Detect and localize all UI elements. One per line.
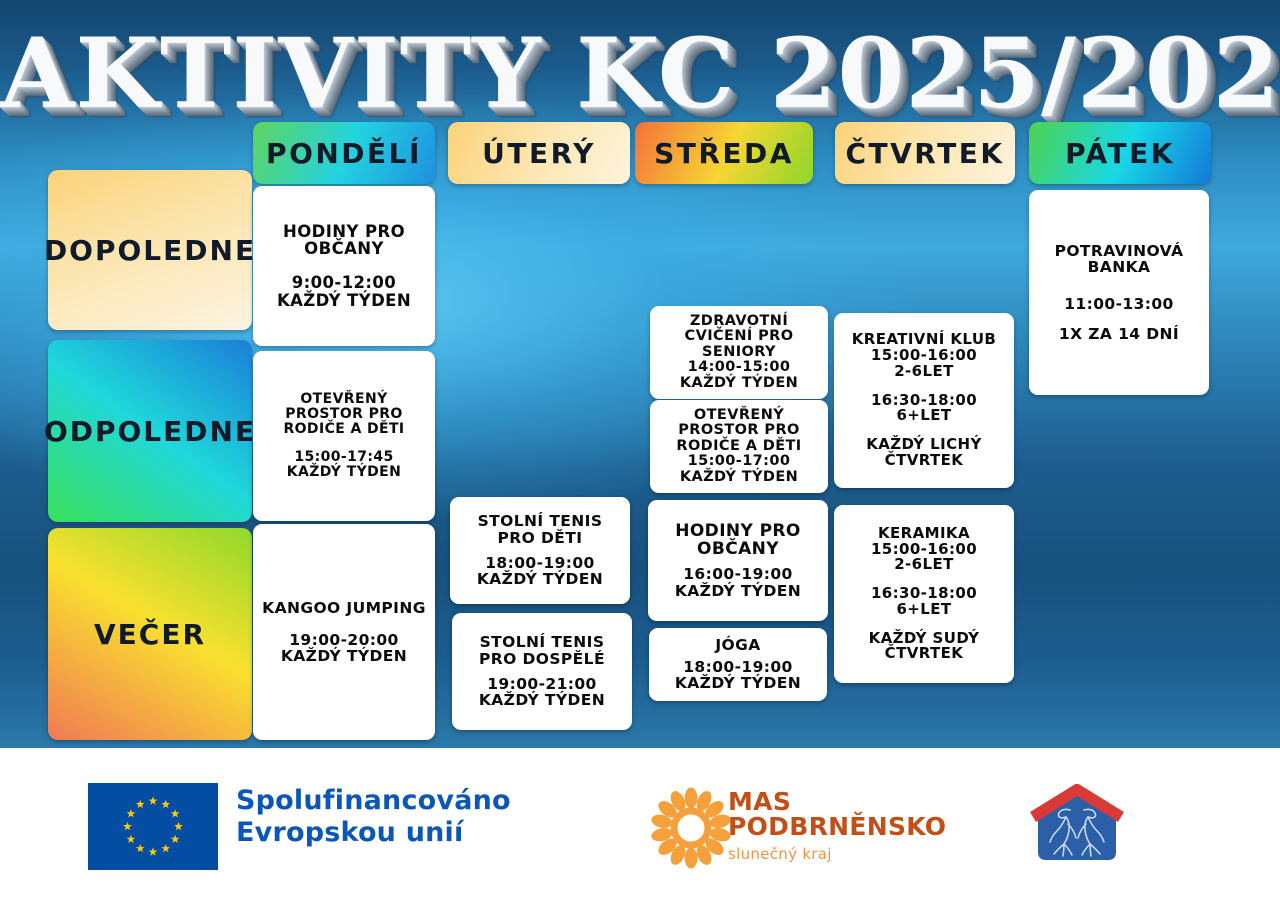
row-label-dopoledne: DOPOLEDNE <box>48 170 252 330</box>
activity-card[interactable]: KANGOO JUMPING 19:00-20:00KAŽDÝ TÝDEN <box>253 524 435 740</box>
activity-card[interactable]: STOLNÍ TENISPRO DOSPĚLÉ 19:00-21:00KAŽDÝ… <box>452 613 632 730</box>
day-header-label: STŘEDA <box>654 137 794 170</box>
house-heron-logo <box>1026 784 1128 864</box>
eu-flag-icon <box>88 783 218 870</box>
activity-title: OTEVŘENÝPROSTOR PRORODIČE A DĚTI <box>283 392 404 436</box>
day-header-patek: PÁTEK <box>1029 122 1211 184</box>
eu-funding-text: Spolufinancováno Evropskou unií <box>236 785 511 849</box>
activity-note: 1X ZA 14 DNÍ <box>1059 326 1179 342</box>
activity-title: KERAMIKA15:00-16:002-6LET <box>871 526 977 574</box>
activity-time: 15:00-17:45KAŽDÝ TÝDEN <box>287 450 401 480</box>
row-label-text: ODPOLEDNE <box>44 415 256 448</box>
activity-title: ZDRAVOTNÍCVIČENÍ PROSENIORY <box>685 314 794 360</box>
day-header-ctvrtek: ČTVRTEK <box>835 122 1015 184</box>
activity-card[interactable]: OTEVŘENÝPROSTOR PRORODIČE A DĚTI 15:00-1… <box>650 400 828 493</box>
activity-note: KAŽDÝ SUDÝČTVRTEK <box>869 631 980 663</box>
row-label-odpoledne: ODPOLEDNE <box>48 340 252 522</box>
day-header-label: ČTVRTEK <box>845 137 1004 170</box>
activity-card[interactable]: ZDRAVOTNÍCVIČENÍ PROSENIORY 14:00-15:00K… <box>650 306 828 399</box>
activity-title: POTRAVINOVÁBANKA <box>1055 243 1184 276</box>
activity-card[interactable]: KERAMIKA15:00-16:002-6LET 16:30-18:006+L… <box>834 505 1014 683</box>
activity-card[interactable]: OTEVŘENÝPROSTOR PRORODIČE A DĚTI 15:00-1… <box>253 351 435 521</box>
activity-time: 19:00-20:00KAŽDÝ TÝDEN <box>281 632 407 665</box>
day-header-label: PÁTEK <box>1065 137 1175 170</box>
mas-logo-text: MAS PODBRNĚNSKO slunečný kraj <box>728 789 946 862</box>
activity-title: KANGOO JUMPING <box>262 600 426 616</box>
day-header-label: PONDĚLÍ <box>266 137 422 170</box>
activity-time: 18:00-19:00KAŽDÝ TÝDEN <box>477 555 603 588</box>
activity-card[interactable]: KREATIVNÍ KLUB15:00-16:002-6LET 16:30-18… <box>834 313 1014 488</box>
activity-time: 16:00-19:00KAŽDÝ TÝDEN <box>675 566 801 599</box>
activity-card[interactable]: HODINY PROOBČANY 16:00-19:00KAŽDÝ TÝDEN <box>648 500 828 621</box>
activity-time: 19:00-21:00KAŽDÝ TÝDEN <box>479 676 605 709</box>
activity-title: STOLNÍ TENISPRO DĚTI <box>478 513 603 546</box>
activity-title: OTEVŘENÝPROSTOR PRORODIČE A DĚTI <box>676 408 801 454</box>
activity-note: KAŽDÝ LICHÝČTVRTEK <box>866 437 982 469</box>
activity-time: 16:30-18:006+LET <box>871 393 977 425</box>
activity-time: 14:00-15:00KAŽDÝ TÝDEN <box>680 360 798 391</box>
day-header-label: ÚTERÝ <box>482 137 596 170</box>
activity-time: 15:00-17:00KAŽDÝ TÝDEN <box>680 454 798 485</box>
activity-time: 11:00-13:00 <box>1064 296 1174 312</box>
mas-line1: MAS <box>728 789 946 814</box>
row-label-vecer: VEČER <box>48 528 252 740</box>
row-label-text: DOPOLEDNE <box>44 234 256 267</box>
poster-root: AKTIVITY KC 2025/2026 PONDĚLÍ ÚTERÝ STŘE… <box>0 0 1280 905</box>
activity-card[interactable]: HODINY PROOBČANY 9:00-12:00KAŽDÝ TÝDEN <box>253 186 435 346</box>
sunflower-icon <box>641 786 741 870</box>
mas-line2: PODBRNĚNSKO <box>728 814 946 839</box>
activity-title: JÓGA <box>715 637 760 653</box>
activity-title: KREATIVNÍ KLUB15:00-16:002-6LET <box>852 332 997 380</box>
day-header-streda: STŘEDA <box>635 122 813 184</box>
mas-tagline: slunečný kraj <box>728 847 946 862</box>
activity-time: 16:30-18:006+LET <box>871 586 977 618</box>
eu-funding-line1: Spolufinancováno <box>236 785 511 817</box>
row-label-text: VEČER <box>94 618 206 651</box>
page-title: AKTIVITY KC 2025/2026 <box>0 24 1280 125</box>
activity-time: 9:00-12:00KAŽDÝ TÝDEN <box>277 274 411 309</box>
day-header-utery: ÚTERÝ <box>448 122 630 184</box>
activity-title: STOLNÍ TENISPRO DOSPĚLÉ <box>479 634 605 667</box>
eu-funding-line2: Evropskou unií <box>236 817 511 849</box>
activity-title: HODINY PROOBČANY <box>675 522 801 558</box>
activity-card[interactable]: JÓGA 18:00-19:00KAŽDÝ TÝDEN <box>649 628 827 701</box>
day-header-pondeli: PONDĚLÍ <box>253 122 435 184</box>
activity-card[interactable]: POTRAVINOVÁBANKA 11:00-13:00 1X ZA 14 DN… <box>1029 190 1209 395</box>
activity-title: HODINY PROOBČANY <box>283 223 405 258</box>
house-heron-icon <box>1026 784 1128 864</box>
eu-flag <box>88 783 218 870</box>
activity-time: 18:00-19:00KAŽDÝ TÝDEN <box>675 659 801 692</box>
activity-card[interactable]: STOLNÍ TENISPRO DĚTI 18:00-19:00KAŽDÝ TÝ… <box>450 497 630 604</box>
mas-logo <box>641 786 741 870</box>
